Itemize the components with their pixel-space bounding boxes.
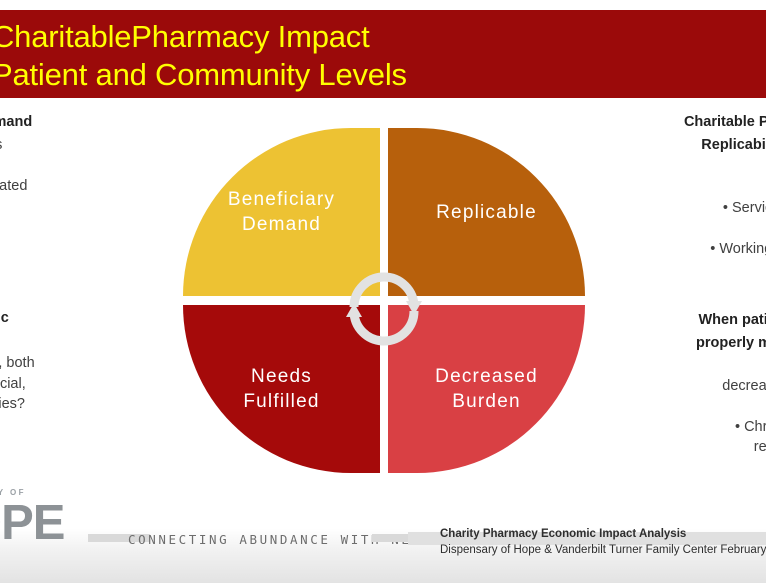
left-block-3-bullet-5: ion within the: [0, 435, 166, 456]
right-block-1-bullet-3: • Working hours and daily av: [594, 239, 766, 260]
footer-caption-subtitle: Dispensary of Hope & Vanderbilt Turner F…: [440, 542, 766, 558]
quadrant-beneficiary-demand[interactable]: BeneficiaryDemand: [183, 128, 380, 296]
right-block-2-bullet-2: • Chronic condition costs: [594, 417, 766, 438]
left-block-2-bullet-2: of Medicaid and: [0, 239, 166, 260]
left-block-3-bullet-3: these communities?: [0, 394, 166, 415]
left-block-2-bullet-1: of demand: [0, 218, 166, 239]
right-block-2-heading-line-2: properly medi: [594, 333, 766, 354]
slide-title-line-2: Patient and Community Levels: [0, 56, 766, 94]
left-block-1-bullet-1: atient responses: [0, 135, 166, 156]
dispensary-of-hope-logo-wordmark: OPE: [0, 499, 64, 547]
quadrant-decreased-burden[interactable]: DecreasedBurden: [388, 305, 585, 473]
left-text-block-1: beneficiary demand atient responses alte…: [0, 112, 166, 196]
left-block-3-bullet-1: any pharmacies, both: [0, 353, 166, 374]
quadrant-replicable-label: Replicable: [428, 200, 545, 225]
left-block-3-bullet-6: d service area?: [0, 456, 166, 477]
right-block-2-bullet-1-cont: decreased emergency and: [594, 376, 766, 397]
right-block-1-bullet-2-cont: ph: [594, 219, 766, 240]
quadrant-beneficiary-demand-label: BeneficiaryDemand: [220, 187, 343, 237]
footer-caption-title: Charity Pharmacy Economic Impact Analysi…: [440, 526, 766, 542]
right-block-1-heading-line-2: Replicability: [594, 135, 766, 156]
right-block-1-heading-line-1: Charitable Pharm: [594, 112, 766, 133]
left-text-block-2: of demand of Medicaid and re expansion: [0, 218, 166, 280]
right-block-2-bullet-2-cont: reduced based on me: [594, 437, 766, 458]
left-block-1-heading: beneficiary demand: [0, 112, 166, 133]
slide-title-line-1: CharitablePharmacy Impact: [0, 18, 766, 56]
right-block-2-bullet-1: • Access to medica: [594, 355, 766, 376]
right-block-2-heading-line-1: When patient: [594, 310, 766, 331]
right-text-block-2: When patient properly medi • Access to m…: [594, 310, 766, 478]
right-block-1-bullet-2: • Services provided across: [594, 198, 766, 219]
footer-caption: Charity Pharmacy Economic Impact Analysi…: [440, 526, 766, 558]
footer-band: SARY OF OPE CONNECTING ABUNDANCE WITH NE…: [0, 495, 766, 583]
quadrant-cycle-diagram: BeneficiaryDemand Replicable NeedsFulfil…: [183, 128, 585, 473]
left-block-1-bullet-3: impacts of untreated: [0, 176, 166, 197]
right-block-2-bullet-2-cont2: inte: [594, 458, 766, 479]
left-block-3-bullet-4: a large indigent: [0, 415, 166, 436]
quadrant-needs-fulfilled-label: NeedsFulfilled: [235, 364, 327, 414]
right-text-block-1: Charitable Pharm Replicability • Stable …: [594, 112, 766, 280]
right-block-2-bullet-1-cont2: care (public hea: [594, 396, 766, 417]
left-block-3-heading-line-2: s: [0, 331, 166, 352]
quadrant-decreased-burden-label: DecreasedBurden: [427, 364, 546, 414]
right-block-1-bullet-1: • Stable and scalab: [594, 157, 766, 178]
left-block-3-bullet-2: ble and commercial,: [0, 374, 166, 395]
right-block-1-bullet-3-cont: to: [594, 260, 766, 281]
left-block-1-bullet-2: alternatives: [0, 155, 166, 176]
right-block-1-bullet-1-cont: on commu: [594, 178, 766, 199]
slide-title-banner: CharitablePharmacy Impact Patient and Co…: [0, 10, 766, 98]
left-block-2-bullet-3: re expansion: [0, 259, 166, 280]
quadrant-replicable[interactable]: Replicable: [388, 128, 585, 296]
left-block-3-heading-line-1: eeds for chronic: [0, 308, 166, 329]
quadrant-needs-fulfilled[interactable]: NeedsFulfilled: [183, 305, 380, 473]
left-text-block-3: eeds for chronic s any pharmacies, both …: [0, 308, 166, 476]
